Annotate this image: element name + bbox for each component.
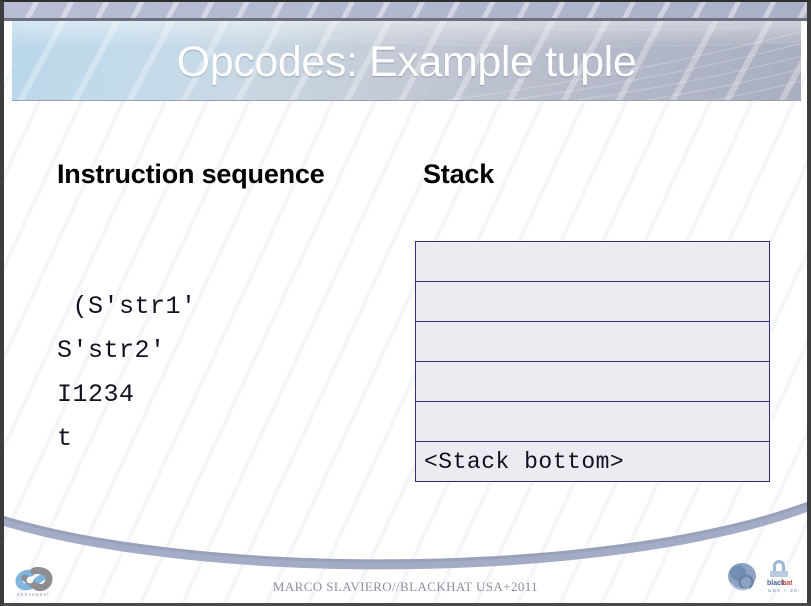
instruction-sequence-heading: Instruction sequence bbox=[57, 152, 377, 196]
table-row bbox=[416, 322, 770, 362]
table-row bbox=[416, 402, 770, 442]
slide-content: Instruction sequence Stack (S'str1' S'st… bbox=[4, 2, 807, 603]
stack-table-body: <Stack bottom> bbox=[416, 242, 770, 482]
presentation-slide: Opcodes: Example tuple Instruction seque… bbox=[0, 0, 811, 606]
stack-heading: Stack bbox=[423, 152, 723, 196]
svg-text:hat: hat bbox=[782, 580, 793, 587]
table-row bbox=[416, 282, 770, 322]
stack-cell-4 bbox=[416, 402, 770, 442]
svg-text:sensepost: sensepost bbox=[17, 592, 50, 598]
stack-cell-0 bbox=[416, 242, 770, 282]
footer-credit-text: MARCO SLAVIERO//BLACKHAT USA+2011 bbox=[4, 579, 807, 595]
instruction-sequence-code: (S'str1' S'str2' I1234 t bbox=[57, 285, 197, 461]
blackhat-logo-icon: black hat USA + 2011 bbox=[725, 555, 799, 599]
table-row bbox=[416, 362, 770, 402]
svg-text:USA + 2011: USA + 2011 bbox=[768, 588, 799, 593]
sensepost-logo-icon: sensepost bbox=[10, 559, 68, 599]
stack-cell-2 bbox=[416, 322, 770, 362]
stack-cell-3 bbox=[416, 362, 770, 402]
stack-cell-bottom: <Stack bottom> bbox=[416, 442, 770, 482]
table-row: <Stack bottom> bbox=[416, 442, 770, 482]
stack-cell-1 bbox=[416, 282, 770, 322]
table-row bbox=[416, 242, 770, 282]
stack-table: <Stack bottom> bbox=[415, 241, 770, 482]
